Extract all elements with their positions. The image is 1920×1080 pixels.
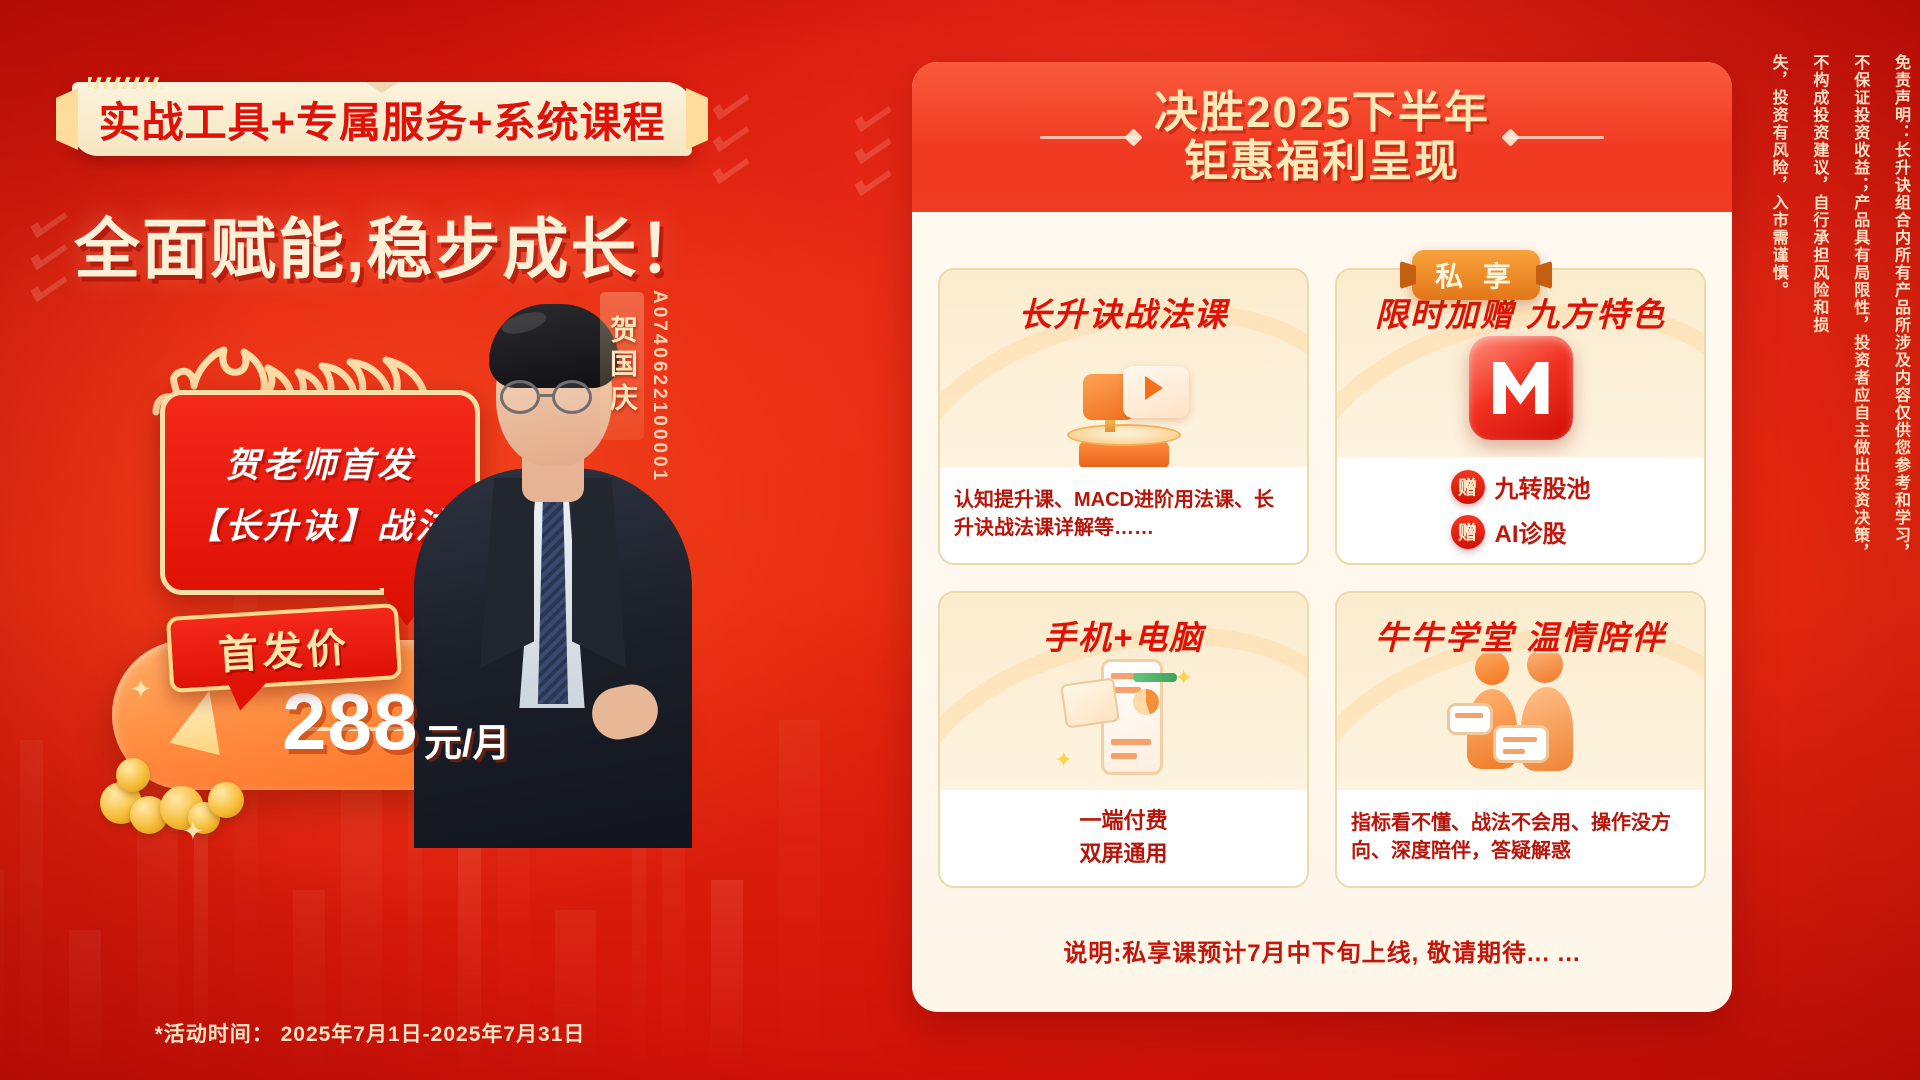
benefit-card-bonus[interactable]: 限时加赠 九方特色 赠 九转股池 赠 AI诊股 [1335, 268, 1706, 565]
private-share-label: 私 享 [1435, 255, 1517, 295]
app-logo-icon [1469, 336, 1573, 440]
card-title: 长升诀战法课 [940, 288, 1307, 336]
card-desc-line-2: 双屏通用 [1079, 837, 1167, 870]
private-share-badge: 私 享 [1412, 250, 1540, 300]
card-description: 认知提升课、MACD进阶用法课、长升诀战法课详解等…… [954, 486, 1293, 543]
price-tag-label: 首发价 [216, 615, 351, 681]
card-description: 指标看不懂、战法不会用、操作没方向、深度陪伴，答疑解惑 [1351, 809, 1690, 866]
people-chat-icon [1441, 645, 1601, 781]
left-promo-section: 实战工具+专属服务+系统课程 全面赋能,稳步成长！ 贺老师首发 【长升诀】战法 … [0, 0, 740, 1080]
disclaimer-column-3: 不构成投资建议，自行承担风险和损 [1806, 54, 1831, 1014]
glasses-lens-right [552, 380, 592, 414]
card-footer: 指标看不懂、战法不会用、操作没方向、深度陪伴，答疑解惑 [1337, 790, 1704, 886]
card-title: 手机+电脑 [940, 611, 1307, 659]
instructor-name: 贺国庆 [602, 315, 642, 417]
feature-ribbon: 实战工具+专属服务+系统课程 [72, 82, 692, 156]
benefits-panel: 决胜2025下半年 钜惠福利呈现 私 享 长升诀战法课 [912, 62, 1732, 1012]
price-number: 288 [282, 676, 418, 768]
activity-period-note: *活动时间： 2025年7月1日-2025年7月31日 [0, 1018, 740, 1048]
chevron-icon [858, 140, 888, 156]
price-tag-badge: 首发价 [166, 603, 402, 693]
ribbon-hatch-decor [88, 77, 162, 89]
disclaimer-column-4: 失，投资有风险，入市需谨慎。 [1765, 54, 1790, 1014]
card-footer: 赠 九转股池 赠 AI诊股 [1337, 457, 1704, 563]
gift-row: 赠 AI诊股 [1451, 514, 1567, 549]
sparkle-icon: ✦ [182, 818, 204, 844]
card-artwork: 牛牛学堂 温情陪伴 [1337, 593, 1704, 790]
gift-badge-icon: 赠 [1451, 470, 1485, 504]
disclaimer-column-2: 不保证投资收益；产品具有局限性，投资者应自主做出投资决策， [1846, 54, 1871, 1014]
card-desc-line-1: 一端付费 [1079, 804, 1167, 837]
ribbon-label: 实战工具+专属服务+系统课程 [98, 89, 665, 150]
gift-label: 九转股池 [1495, 469, 1591, 504]
benefit-card-devices[interactable]: 手机+电脑 ✦ ✦ 一端付费 双屏通用 [938, 591, 1309, 888]
card-description: 一端付费 双屏通用 [1079, 804, 1167, 870]
gift-label: AI诊股 [1495, 514, 1567, 549]
gift-row: 赠 九转股池 [1451, 469, 1591, 504]
benefit-cards-grid: 长升诀战法课 认知提升课、MACD进阶用法课、长升诀战法课详解等…… 限时加赠 … [938, 268, 1706, 888]
projector-icon [1049, 348, 1199, 467]
card-artwork: 手机+电脑 ✦ ✦ [940, 593, 1307, 790]
disclaimer-column-1: 免责声明：长升诀组合内所有产品所涉及内容仅供您参考和学习， [1887, 54, 1912, 1014]
sparkle-icon: ✦ [130, 676, 152, 702]
panel-title-line-1: 决胜2025下半年 [1154, 88, 1490, 137]
panel-header: 决胜2025下半年 钜惠福利呈现 [912, 62, 1732, 212]
header-dash-right [1508, 136, 1604, 139]
panel-title-line-2: 钜惠福利呈现 [1154, 137, 1490, 186]
chevron-icon [858, 108, 888, 124]
card-artwork: 长升诀战法课 [940, 270, 1307, 467]
benefit-card-course[interactable]: 长升诀战法课 认知提升课、MACD进阶用法课、长升诀战法课详解等…… [938, 268, 1309, 565]
price-unit: 元/月 [424, 712, 511, 767]
card-title: 牛牛学堂 温情陪伴 [1337, 611, 1704, 659]
card-footer: 认知提升课、MACD进阶用法课、长升诀战法课详解等…… [940, 467, 1307, 563]
header-dash-left [1040, 136, 1136, 139]
page-title: 全面赋能,稳步成长！ [74, 196, 714, 292]
benefit-card-community[interactable]: 牛牛学堂 温情陪伴 指标看不懂、战法不会用、操作没方向、深度陪伴，答疑解惑 [1335, 591, 1706, 888]
phone-chart-icon: ✦ ✦ [1049, 651, 1199, 781]
bubble-line-1: 贺老师首发 [225, 437, 415, 488]
instructor-name-plate: 贺国庆 [600, 292, 644, 440]
licence-code: A0740622100001 [648, 290, 670, 483]
chevron-icon [858, 172, 888, 188]
panel-note: 说明:私享课预计7月中下旬上线, 敬请期待... ... [912, 933, 1732, 968]
glasses-lens-left [500, 380, 540, 414]
glasses-bridge [540, 394, 554, 397]
gift-badge-icon: 赠 [1451, 515, 1485, 549]
card-footer: 一端付费 双屏通用 [940, 790, 1307, 886]
disclaimer-block: 免责声明：长升诀组合内所有产品所涉及内容仅供您参考和学习， 不保证投资收益；产品… [1748, 54, 1912, 1014]
